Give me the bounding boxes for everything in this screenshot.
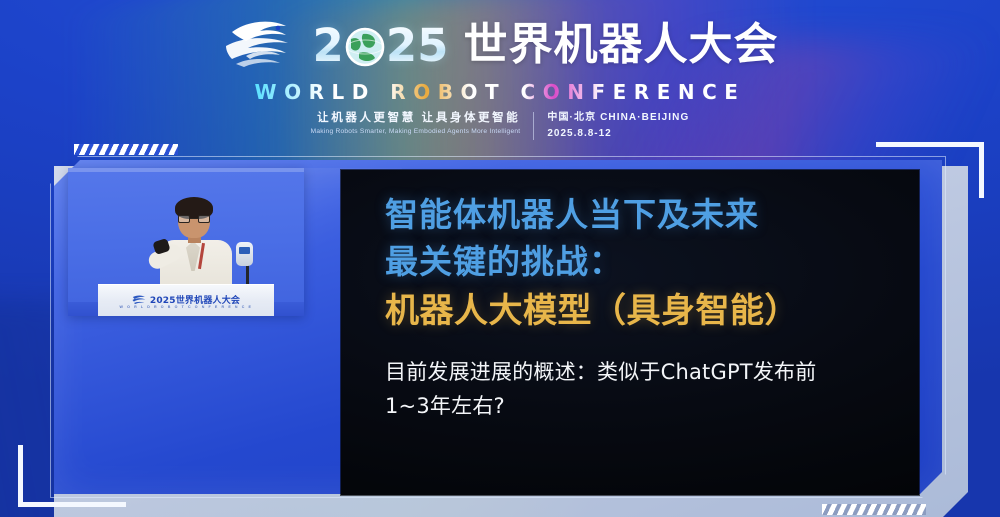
year-logo: 2 25 [313,18,449,72]
logo-row: 2 25 世界机器人大会 [222,16,779,74]
corner-bracket-bottom-left [18,445,126,507]
slide-content: 智能体机器人当下及未来 最关键的挑战： 机器人大模型（具身智能） 目前发展进展的… [385,192,901,423]
event-title-en: WORLD ROBOT CONFERENCE [255,80,746,102]
slide-subheading: 机器人大模型（具身智能） [385,288,901,336]
podium: 2025世界机器人大会 W O R L D R O B O T C O N F … [98,284,274,316]
slide-body: 目前发展进展的概述：类似于ChatGPT发布前 1~3年左右? [385,355,901,423]
tagline-divider [533,112,534,140]
speaker-video-inset[interactable]: 2025世界机器人大会 W O R L D R O B O T C O N F … [68,168,304,316]
speaker-glasses [178,215,210,223]
podium-title-en: W O R L D R O B O T C O N F E R E N C E [119,305,252,309]
tagline-cn: 让机器人更智慧 让具身体更智能 [311,111,521,125]
microphone-icon [236,242,253,266]
presentation-slide[interactable]: 智能体机器人当下及未来 最关键的挑战： 机器人大模型（具身智能） 目前发展进展的… [341,170,919,495]
slide-body-line-2: 1~3年左右? [385,389,901,423]
event-date: 2025.8.8-12 [547,128,689,140]
speaker-figure [152,200,244,294]
event-city: 中国·北京 CHINA·BEIJING [547,111,689,124]
slide-heading-line-2: 最关键的挑战： [385,239,901,286]
diagonal-stripe-tab-top-left [74,144,178,155]
diagonal-stripe-tab-bottom-right [822,504,926,515]
tagline-right: 中国·北京 CHINA·BEIJING 2025.8.8-12 [547,111,689,140]
wrc-swoosh-bird-emblem-icon-small [132,294,146,305]
wrc-swoosh-bird-emblem-icon [222,16,304,74]
globe-icon [345,27,385,67]
event-title-cn: 世界机器人大会 [463,23,778,67]
year-digit-left: 2 [313,23,344,68]
slide-heading-line-1: 智能体机器人当下及未来 [385,192,901,239]
event-logo-block: 2 25 世界机器人大会 WORLD ROBOT CONFERENCE 让机器人… [0,16,1000,138]
slide-body-line-1: 目前发展进展的概述：类似于ChatGPT发布前 [385,355,901,389]
screen: 2 25 世界机器人大会 WORLD ROBOT CONFERENCE 让机器人… [0,0,1000,517]
tagline-left: 让机器人更智慧 让具身体更智能 Making Robots Smarter, M… [311,111,521,136]
tagline-row: 让机器人更智慧 让具身体更智能 Making Robots Smarter, M… [311,111,690,140]
year-digit-right: 25 [386,23,449,68]
tagline-en: Making Robots Smarter, Making Embodied A… [311,128,521,136]
